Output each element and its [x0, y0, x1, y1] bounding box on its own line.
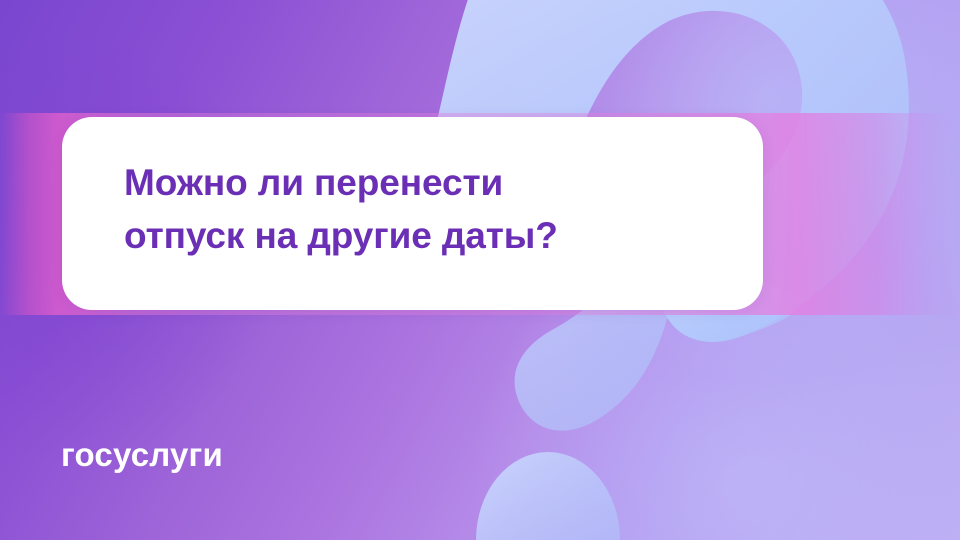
- page-title-line-1: Можно ли перенести: [124, 157, 724, 210]
- page-title-line-2: отпуск на другие даты?: [124, 210, 724, 263]
- gosuslugi-logo: госуслуги: [61, 438, 223, 471]
- slide-canvas: Можно ли перенести отпуск на другие даты…: [0, 0, 960, 540]
- page-title: Можно ли перенести отпуск на другие даты…: [124, 157, 724, 262]
- question-card: Можно ли перенести отпуск на другие даты…: [62, 117, 763, 310]
